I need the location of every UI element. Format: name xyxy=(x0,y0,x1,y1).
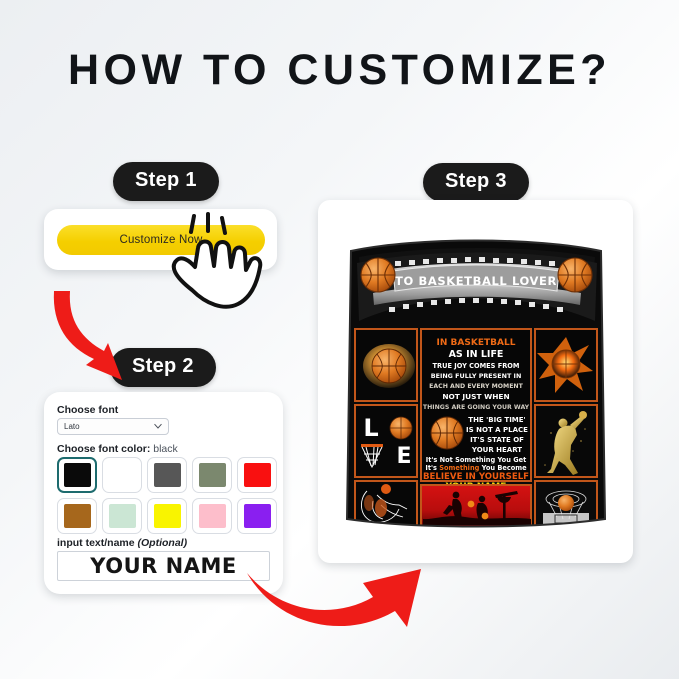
quote-line-10: IT'S STATE OF xyxy=(470,436,524,444)
panel-fire-basketball xyxy=(535,329,597,401)
step-1-card: Customize Now xyxy=(44,209,277,270)
color-swatch-red[interactable] xyxy=(237,457,277,493)
quote-line-3: TRUE JOY COMES FROM xyxy=(433,362,520,370)
quote-line-11: YOUR HEART xyxy=(471,446,522,454)
blanket-artwork: TO BASKETBALL LOVER xyxy=(337,233,615,533)
panel-love-hoop-collage: L E xyxy=(355,405,417,477)
center-basketball-icon xyxy=(431,417,463,449)
color-swatch-brown[interactable] xyxy=(57,498,97,534)
choose-font-color-text: Choose font color: xyxy=(57,443,150,455)
name-input-value: YOUR NAME xyxy=(90,554,236,578)
color-swatch-sage[interactable] xyxy=(192,457,232,493)
panel-golden-dunk xyxy=(535,405,597,477)
basketball-icon-left xyxy=(361,258,395,292)
quote-line-13: It's Something You Become xyxy=(425,464,527,472)
color-swatch-yellow[interactable] xyxy=(147,498,187,534)
step-1-badge: Step 1 xyxy=(113,162,219,201)
panel-line-art-player xyxy=(355,481,417,527)
name-text-input[interactable]: YOUR NAME xyxy=(57,551,270,581)
step-2-badge: Step 2 xyxy=(110,348,216,387)
love-letter-l: L xyxy=(363,414,378,442)
panel-hoop-from-below xyxy=(535,481,597,527)
love-letter-e: E xyxy=(396,444,411,469)
font-select[interactable]: Lato xyxy=(57,418,169,435)
color-swatch-white[interactable] xyxy=(102,457,142,493)
customize-now-button[interactable]: Customize Now xyxy=(57,225,265,255)
color-swatch-grid xyxy=(57,457,277,534)
panel-glowing-basketball xyxy=(355,329,417,401)
quote-line-2: AS IN LIFE xyxy=(449,349,504,360)
step-2-card: Choose font Lato Choose font color: blac… xyxy=(44,392,283,594)
customize-now-label: Customize Now xyxy=(119,234,202,246)
quote-line-9: IS NOT A PLACE xyxy=(466,426,528,434)
input-name-label: input text/name (Optional) xyxy=(57,537,187,549)
page-title: HOW TO CUSTOMIZE? xyxy=(0,46,679,95)
quote-line-5: EACH AND EVERY MOMENT xyxy=(429,383,523,390)
step-3-badge: Step 3 xyxy=(423,163,529,202)
basketball-as-letter-o xyxy=(390,417,412,439)
quote-line-7: THINGS ARE GOING YOUR WAY xyxy=(423,404,530,411)
banner-text: TO BASKETBALL LOVER xyxy=(395,274,557,288)
quote-line-6: NOT JUST WHEN xyxy=(442,392,509,401)
quote-line-14: BELIEVE IN YOURSELF xyxy=(423,472,529,482)
panel-red-sunset xyxy=(421,485,531,527)
input-name-optional: (Optional) xyxy=(138,537,188,549)
color-swatch-black[interactable] xyxy=(57,457,97,493)
panel-center-quote: IN BASKETBALL AS IN LIFE TRUE JOY COMES … xyxy=(421,329,531,482)
font-select-value: Lato xyxy=(64,422,80,431)
color-swatch-pink[interactable] xyxy=(192,498,232,534)
color-swatch-mint[interactable] xyxy=(102,498,142,534)
choose-font-color-label: Choose font color: black xyxy=(57,443,178,455)
basketball-icon-right xyxy=(558,258,592,292)
chevron-down-icon xyxy=(154,422,162,430)
quote-line-1: IN BASKETBALL xyxy=(437,338,516,348)
choose-font-color-value: black xyxy=(153,443,178,455)
quote-line-4: BEING FULLY PRESENT IN xyxy=(431,372,522,380)
quote-line-8: THE 'BIG TIME' xyxy=(468,416,525,424)
color-swatch-purple[interactable] xyxy=(237,498,277,534)
blanket-product-image: TO BASKETBALL LOVER xyxy=(337,233,615,533)
choose-font-label: Choose font xyxy=(57,404,118,416)
quote-line-12: It's Not Something You Get xyxy=(426,456,527,464)
input-name-text: input text/name xyxy=(57,537,135,549)
color-swatch-dark-gray[interactable] xyxy=(147,457,187,493)
